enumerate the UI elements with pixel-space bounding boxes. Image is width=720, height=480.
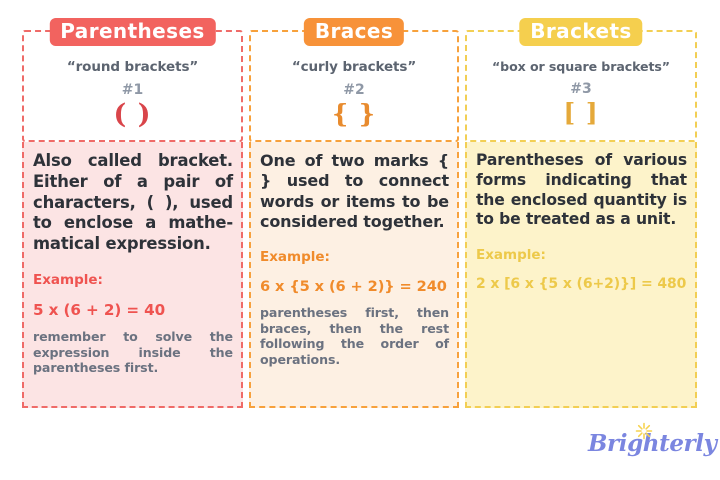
symbol-glyph-parentheses: ( ) [24, 100, 241, 130]
body-card-parentheses: Also called bracket. Either of a pair of… [22, 142, 243, 408]
header-box-brackets: Brackets “box or square brackets” #3 [ ] [465, 30, 697, 142]
infographic-canvas: Parentheses “round brackets” #1 ( ) Also… [0, 0, 720, 480]
example-equation-parentheses: 5 x (6 + 2) = 40 [33, 301, 233, 319]
example-label-parentheses: Example: [33, 272, 233, 288]
concept-column-parentheses: Parentheses “round brackets” #1 ( ) Also… [22, 30, 243, 408]
body-card-brackets: Parentheses of various forms indicating … [465, 142, 697, 408]
body-card-braces: One of two marks { } used to connect wor… [249, 142, 459, 408]
badge-parentheses: Parentheses [49, 18, 215, 46]
header-box-parentheses: Parentheses “round brackets” #1 ( ) [22, 30, 243, 142]
header-box-braces: Braces “curly brackets” #2 { } [249, 30, 459, 142]
symbol-glyph-braces: { } [251, 100, 457, 128]
subtitle-parentheses: “round brackets” [24, 59, 241, 75]
brand-logo: Brighterly [588, 424, 698, 464]
note-braces: parentheses first, then braces, then the… [260, 305, 449, 367]
example-equation-brackets: 2 x [6 x {5 x (6+2)}] = 480 [476, 276, 687, 292]
sparkle-icon [635, 422, 653, 440]
rank-brackets: #3 [467, 81, 695, 97]
note-parentheses: remember to solve the expression inside … [33, 329, 233, 376]
symbol-glyph-brackets: [ ] [467, 99, 695, 127]
definition-parentheses: Also called bracket. Either of a pair of… [33, 151, 233, 255]
subtitle-braces: “curly brackets” [251, 59, 457, 75]
subtitle-brackets: “box or square brackets” [467, 59, 695, 74]
concept-column-braces: Braces “curly brackets” #2 { } One of tw… [249, 30, 459, 408]
example-equation-braces: 6 x {5 x (6 + 2)} = 240 [260, 278, 449, 295]
badge-brackets: Brackets [519, 18, 642, 46]
definition-brackets: Parentheses of various forms indicating … [476, 151, 687, 230]
definition-braces: One of two marks { } used to connect wor… [260, 151, 449, 232]
example-label-braces: Example: [260, 249, 449, 265]
example-label-brackets: Example: [476, 247, 687, 263]
concept-column-brackets: Brackets “box or square brackets” #3 [ ]… [465, 30, 697, 408]
rank-braces: #2 [251, 82, 457, 98]
rank-parentheses: #1 [24, 82, 241, 98]
badge-braces: Braces [304, 18, 404, 46]
